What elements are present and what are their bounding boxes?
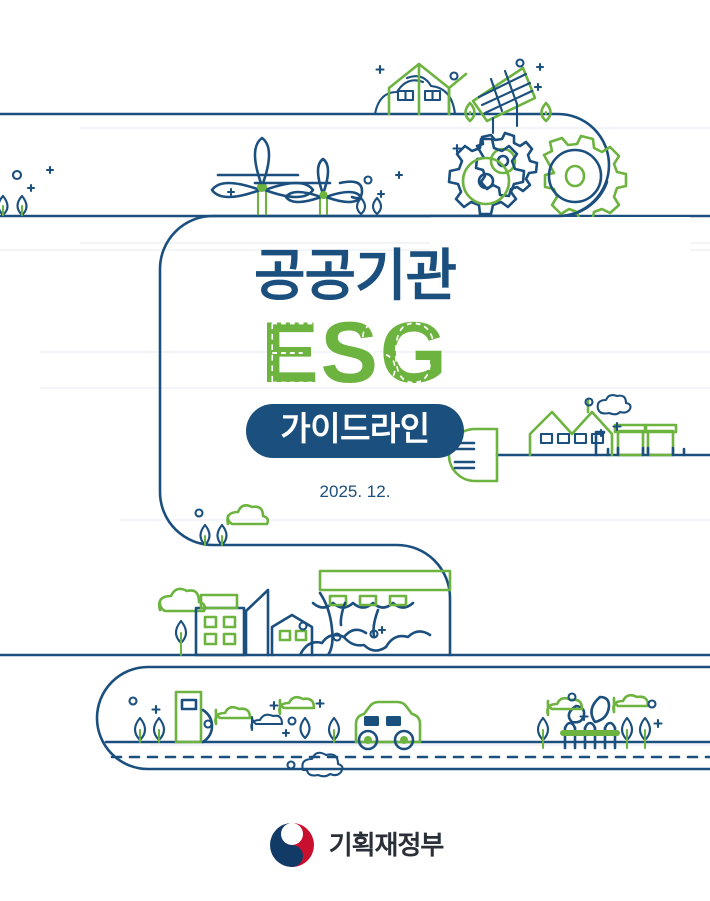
footer-organization-name: 기획재정부 xyxy=(329,832,444,858)
footer-logo-block: 기획재정부 xyxy=(0,820,710,870)
cover-illustration: .nv { fill:none; stroke:#1b4f7e; stroke-… xyxy=(0,0,710,901)
page-background xyxy=(0,0,710,901)
taegeuk-emblem-icon xyxy=(267,820,317,870)
